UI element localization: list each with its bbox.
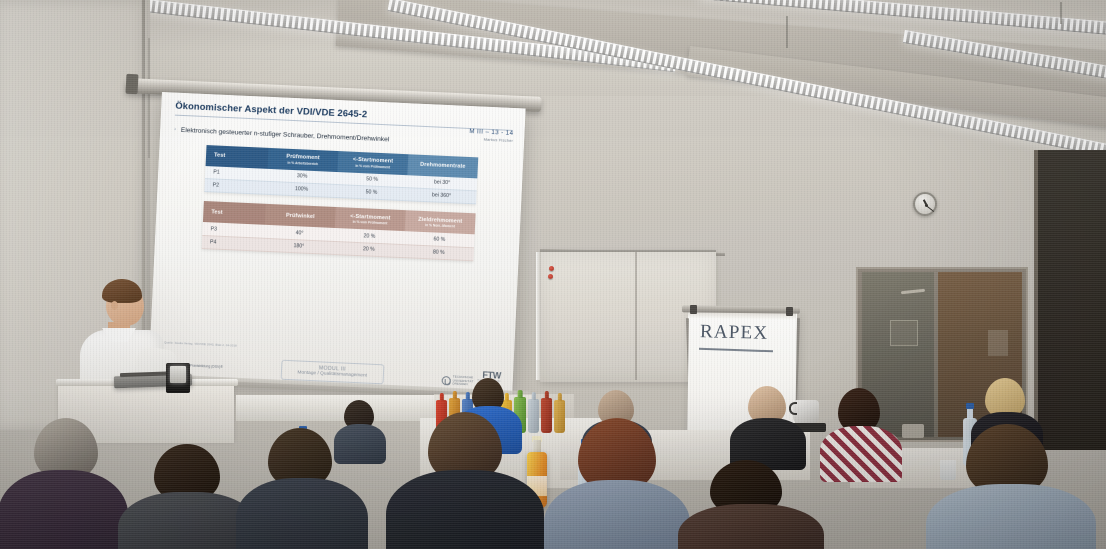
whiteboard-divider bbox=[635, 252, 637, 380]
cell-pruefwinkel: 180° bbox=[264, 238, 335, 254]
magnet-icon bbox=[548, 274, 553, 279]
cell-startmoment: 50 % bbox=[336, 185, 407, 201]
slide-bullet-text: Elektronisch gesteuerter n-stufiger Schr… bbox=[181, 127, 390, 144]
torso bbox=[820, 426, 902, 482]
flipchart-top-bar bbox=[682, 305, 800, 313]
th-test: Test bbox=[206, 145, 269, 169]
presentation-slide: Ökonomischer Aspekt der VDI/VDE 2645-2 M… bbox=[149, 92, 526, 394]
torso bbox=[0, 470, 128, 549]
cell-test: P4 bbox=[202, 235, 265, 251]
drink-bottle bbox=[528, 399, 539, 433]
flipchart-handwritten-text: RAPEX bbox=[700, 321, 769, 345]
cell-pruefmoment: 100% bbox=[266, 182, 337, 198]
whiteboard-frame bbox=[536, 252, 541, 380]
tu-dresden-mark-icon bbox=[441, 376, 450, 385]
presenter-hair bbox=[102, 279, 142, 303]
bullet-marker-icon: › bbox=[174, 127, 176, 135]
flipchart-clip[interactable] bbox=[786, 307, 793, 316]
audience-member bbox=[10, 418, 118, 549]
presenter-ear bbox=[111, 301, 118, 310]
bottle-cap bbox=[966, 403, 974, 409]
wall-panel-edge bbox=[148, 38, 150, 158]
audience-member bbox=[246, 428, 356, 549]
audience-member bbox=[736, 386, 798, 464]
podium-lamp-glass bbox=[170, 366, 186, 383]
angle-control-table: Test Prüfwinkel <-Startmoment in % vom P… bbox=[202, 201, 476, 261]
projection-screen-roller-cap bbox=[126, 74, 139, 95]
drink-bottle bbox=[541, 398, 552, 433]
flipchart-clip[interactable] bbox=[690, 305, 697, 314]
cell-test: P2 bbox=[204, 179, 267, 195]
torque-control-table: Test Prüfmoment in % Arbeitsbereich <-St… bbox=[204, 145, 478, 205]
right-cabinet bbox=[1034, 150, 1106, 450]
light-suspension-rod bbox=[1060, 2, 1062, 24]
audience-member bbox=[128, 444, 246, 549]
door-window-panel bbox=[890, 320, 918, 346]
projection-screen: Ökonomischer Aspekt der VDI/VDE 2645-2 M… bbox=[149, 92, 526, 394]
torso bbox=[544, 480, 690, 549]
audience-member bbox=[826, 388, 892, 472]
magnet-icon bbox=[549, 266, 554, 271]
audience-member bbox=[940, 424, 1080, 549]
audience-member bbox=[556, 418, 676, 549]
torso bbox=[678, 504, 824, 549]
light-suspension-rod bbox=[786, 16, 788, 48]
door-window-panel bbox=[988, 330, 1008, 356]
wall-clock-icon bbox=[913, 192, 937, 216]
torso bbox=[386, 470, 544, 549]
slide-code-block: M III – 13 - 14 Markus Fischer bbox=[469, 128, 514, 143]
slide-source-note: Quelle: Studie Verlag, VDI/VDE 2645, Bla… bbox=[164, 341, 237, 347]
torso bbox=[236, 478, 368, 549]
cell-drehmomentrate: bei 360° bbox=[406, 188, 477, 204]
clock-center bbox=[925, 204, 928, 207]
lecture-room-photo: RAPEX Ökonomischer Aspekt der VDI/VDE 26… bbox=[0, 0, 1106, 549]
door-handle[interactable] bbox=[902, 424, 924, 438]
cell-zieldrehmoment: 80 % bbox=[403, 245, 474, 261]
audience-member bbox=[690, 460, 810, 549]
audience-member bbox=[400, 412, 528, 549]
torso bbox=[926, 484, 1096, 549]
th-test: Test bbox=[203, 201, 266, 225]
cell-startmoment: 20 % bbox=[334, 241, 405, 257]
